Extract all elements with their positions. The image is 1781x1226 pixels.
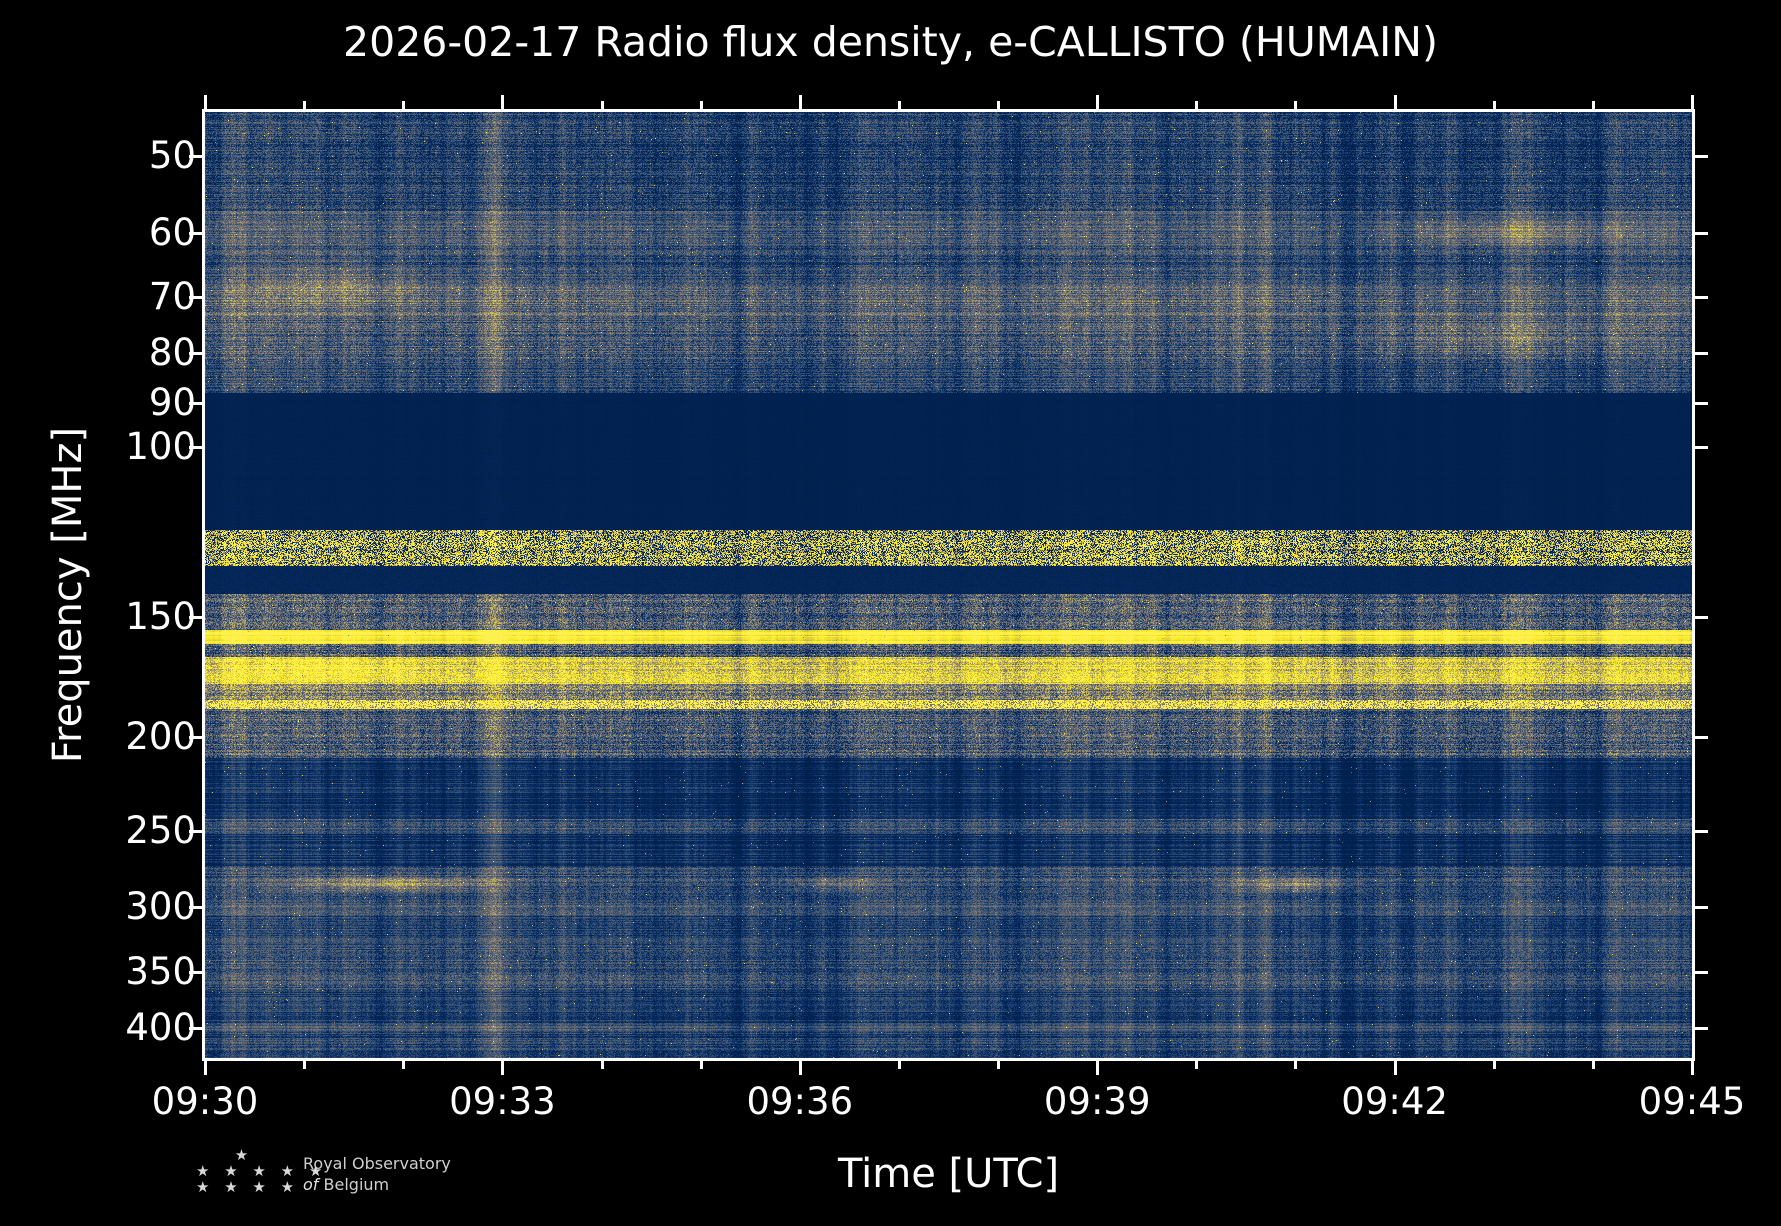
x-tick-label: 09:33	[449, 1082, 556, 1122]
x-tick-mark-minor	[601, 1061, 604, 1069]
x-tick-mark	[1096, 1061, 1099, 1075]
y-tick-label: 50	[149, 137, 196, 174]
axis-spine-right	[1692, 109, 1695, 1061]
y-tick-label: 70	[149, 278, 196, 315]
x-tick-mark	[1691, 1061, 1694, 1075]
x-tick-mark-minor	[1294, 101, 1297, 109]
y-tick-label: 400	[125, 1009, 196, 1046]
x-tick-mark	[501, 95, 504, 109]
y-axis-title: Frequency [MHz]	[48, 245, 88, 945]
x-tick-mark-minor	[402, 1061, 405, 1069]
x-tick-mark	[1691, 95, 1694, 109]
star-row-top: ★	[196, 1148, 292, 1163]
spectrogram-figure: 2026-02-17 Radio flux density, e-CALLIST…	[0, 0, 1781, 1226]
x-tick-mark-minor	[601, 101, 604, 109]
page-title: 2026-02-17 Radio flux density, e-CALLIST…	[0, 16, 1781, 68]
x-tick-label: 09:39	[1044, 1082, 1151, 1122]
x-tick-mark-minor	[1195, 101, 1198, 109]
x-tick-mark-minor	[1294, 1061, 1297, 1069]
x-tick-mark-minor	[402, 101, 405, 109]
axis-spine-bottom	[202, 1058, 1695, 1061]
y-tick-mark-right	[1695, 1027, 1708, 1030]
x-tick-label: 09:36	[746, 1082, 853, 1122]
x-tick-mark-minor	[997, 1061, 1000, 1069]
x-tick-mark-minor	[898, 101, 901, 109]
x-tick-mark-minor	[303, 1061, 306, 1069]
x-tick-mark-minor	[997, 101, 1000, 109]
axis-spine-left	[202, 109, 205, 1061]
x-tick-label: 09:30	[152, 1082, 259, 1122]
x-tick-mark-minor	[1592, 101, 1595, 109]
x-tick-mark	[501, 1061, 504, 1075]
x-tick-mark-minor	[700, 101, 703, 109]
x-tick-mark-minor	[1493, 1061, 1496, 1069]
y-tick-label: 100	[125, 428, 196, 465]
logo-line-2-rest: Belgium	[324, 1175, 390, 1194]
x-tick-mark	[1394, 95, 1397, 109]
y-tick-mark-right	[1695, 616, 1708, 619]
y-tick-mark-right	[1695, 971, 1708, 974]
y-tick-mark-right	[1695, 352, 1708, 355]
x-tick-mark	[799, 1061, 802, 1075]
y-tick-mark-right	[1695, 736, 1708, 739]
y-tick-mark-right	[1695, 402, 1708, 405]
y-tick-label: 80	[149, 334, 196, 371]
y-tick-label: 300	[125, 888, 196, 925]
x-tick-mark-minor	[1195, 1061, 1198, 1069]
royal-observatory-logo: ★ ★ ★ ★ ★ ★ ★ ★ ★ ★ Royal Observatory of…	[196, 1148, 451, 1200]
y-tick-mark-right	[1695, 296, 1708, 299]
x-tick-mark-minor	[1592, 1061, 1595, 1069]
y-tick-mark-right	[1695, 830, 1708, 833]
star-row-bottom: ★ ★ ★ ★	[196, 1180, 292, 1195]
y-tick-label: 60	[149, 214, 196, 251]
x-tick-mark	[799, 95, 802, 109]
spectrogram-image	[205, 112, 1692, 1058]
spectrogram-plot-area[interactable]	[205, 112, 1692, 1058]
y-tick-mark-right	[1695, 446, 1708, 449]
x-tick-mark-minor	[303, 101, 306, 109]
stars-icon: ★ ★ ★ ★ ★ ★ ★ ★ ★ ★	[196, 1148, 292, 1200]
y-tick-label: 150	[125, 598, 196, 635]
y-tick-mark-right	[1695, 906, 1708, 909]
x-tick-mark	[204, 95, 207, 109]
x-tick-mark	[1096, 95, 1099, 109]
x-tick-mark	[204, 1061, 207, 1075]
y-tick-label: 350	[125, 953, 196, 990]
x-tick-label: 09:45	[1639, 1082, 1746, 1122]
y-tick-mark-right	[1695, 155, 1708, 158]
star-row-middle: ★ ★ ★ ★ ★	[196, 1164, 292, 1179]
y-tick-mark-right	[1695, 232, 1708, 235]
x-tick-mark-minor	[898, 1061, 901, 1069]
x-tick-mark-minor	[1493, 101, 1496, 109]
x-tick-mark-minor	[700, 1061, 703, 1069]
x-tick-label: 09:42	[1341, 1082, 1448, 1122]
y-tick-label: 200	[125, 718, 196, 755]
x-tick-mark	[1394, 1061, 1397, 1075]
axis-spine-top	[202, 109, 1695, 112]
y-tick-label: 250	[125, 812, 196, 849]
y-tick-label: 90	[149, 384, 196, 421]
